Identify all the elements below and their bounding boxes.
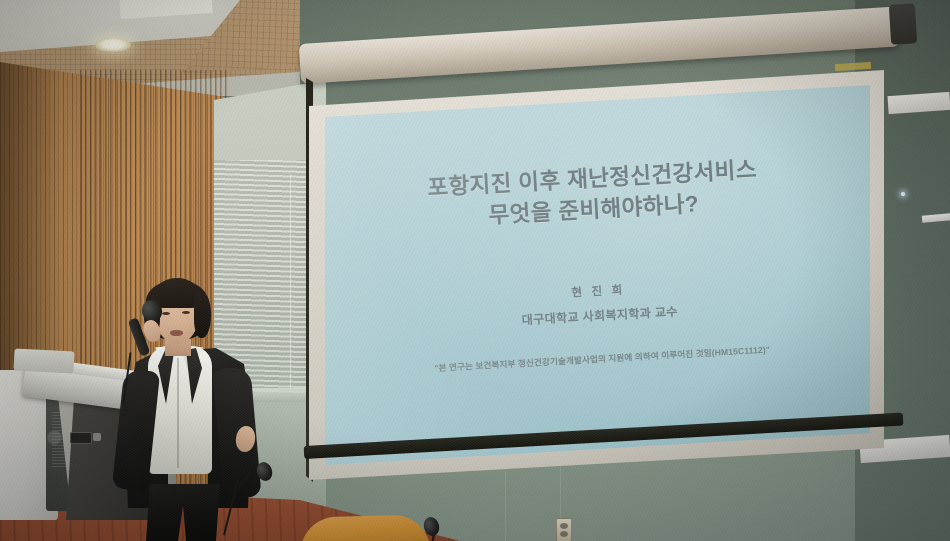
wall-led-indicator xyxy=(901,192,905,196)
eye-left xyxy=(162,312,170,315)
slide-funding-note: "본 연구는 보건복지부 정신건강기술개발사업의 지원에 의하여 이루어진 것임… xyxy=(330,338,875,380)
podium-control-panel[interactable] xyxy=(70,432,92,444)
wall-seam-2 xyxy=(505,470,506,541)
screen-housing-endcap xyxy=(889,3,917,45)
blouse-placket xyxy=(177,358,179,468)
conference-room-photo: 포항지진 이후 재난정신건강서비스 무엇을 준비해야하나? 현 진 희 대구대학… xyxy=(0,0,950,541)
slide-title: 포항지진 이후 재난정신건강서비스 무엇을 준비해야하나? xyxy=(319,148,867,240)
presenter xyxy=(108,278,268,541)
hair-side-right xyxy=(194,292,211,338)
white-blouse xyxy=(148,346,212,474)
podium-front-lip xyxy=(13,348,74,373)
podium-knob[interactable] xyxy=(47,430,62,445)
eye-right xyxy=(182,311,190,314)
trousers xyxy=(146,484,220,541)
podium-control-button[interactable] xyxy=(93,433,101,441)
blinds-cord xyxy=(290,175,291,390)
wall-power-outlet-right[interactable] xyxy=(556,518,572,541)
mouth xyxy=(170,330,183,336)
ceiling-downlight-1 xyxy=(95,38,131,52)
